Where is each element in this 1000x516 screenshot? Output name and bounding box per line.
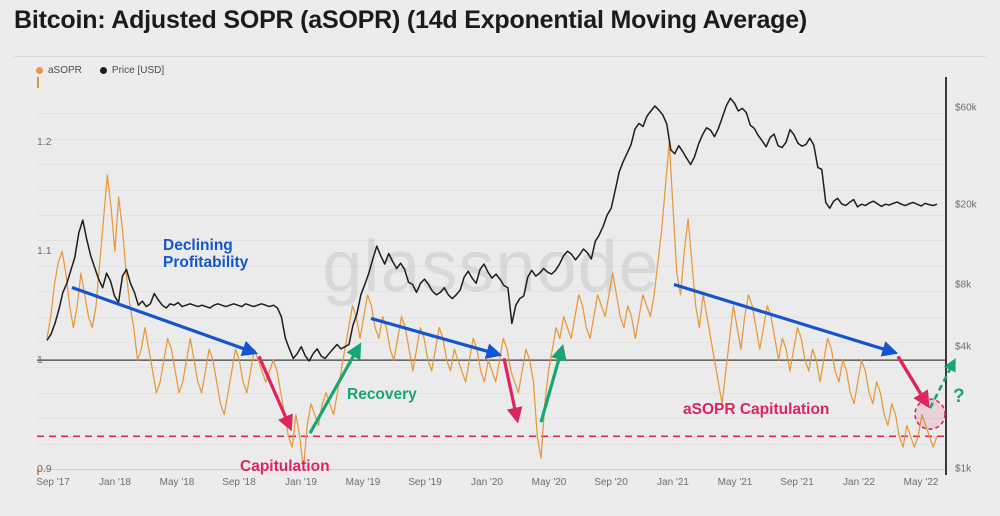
x-axis-tick: May '18 xyxy=(160,477,195,488)
x-axis-tick: Jan '22 xyxy=(843,477,875,488)
y-right-tick: $4k xyxy=(945,341,971,352)
annotation-declining-profitability: Declining Profitability xyxy=(163,237,248,272)
annotation-recovery: Recovery xyxy=(347,386,417,403)
gridline xyxy=(37,215,945,216)
gridline xyxy=(37,444,945,445)
gridline xyxy=(37,190,945,191)
y-axis-right xyxy=(945,77,947,475)
gridline xyxy=(37,139,945,140)
watermark: glassnode xyxy=(322,226,659,308)
x-axis-tick: Sep '19 xyxy=(408,477,442,488)
chart-card: aSOPR Price [USD] glassnode 1.21.110.9 $… xyxy=(14,56,986,496)
x-axis-tick: Jan '20 xyxy=(471,477,503,488)
gridline xyxy=(37,342,945,343)
gridline xyxy=(37,113,945,114)
y-left-tick: 1.2 xyxy=(37,136,45,148)
x-axis-tick: Sep '21 xyxy=(780,477,814,488)
y-right-tick: $8k xyxy=(945,280,971,291)
annotation-capitulation: Capitulation xyxy=(240,458,330,475)
annotation-asopr-capitulation: aSOPR Capitulation xyxy=(683,401,829,418)
page-title: Bitcoin: Adjusted SOPR (aSOPR) (14d Expo… xyxy=(14,6,807,35)
gridline xyxy=(37,317,945,318)
gridline xyxy=(37,393,945,394)
legend-dot-asopr xyxy=(36,67,43,74)
legend-item-price[interactable]: Price [USD] xyxy=(100,65,164,76)
y-right-tick: $1k xyxy=(945,464,971,475)
gridline xyxy=(37,291,945,292)
y-right-tick: $60k xyxy=(945,102,977,113)
x-axis xyxy=(37,469,945,470)
chart-legend: aSOPR Price [USD] xyxy=(36,65,164,76)
legend-item-asopr[interactable]: aSOPR xyxy=(36,65,82,76)
y-left-tick: 0.9 xyxy=(37,463,45,475)
legend-label-price: Price [USD] xyxy=(112,65,164,76)
gridline xyxy=(37,367,945,368)
x-axis-tick: May '22 xyxy=(904,477,939,488)
x-axis-tick: Jan '21 xyxy=(657,477,689,488)
x-axis-tick: May '21 xyxy=(718,477,753,488)
annotation-question-mark: ? xyxy=(953,386,965,407)
legend-dot-price xyxy=(100,67,107,74)
series-line-asopr xyxy=(47,142,937,469)
x-axis-tick: Jan '19 xyxy=(285,477,317,488)
x-axis-tick: Sep '18 xyxy=(222,477,256,488)
x-axis-tick: Sep '17 xyxy=(36,477,70,488)
legend-label-asopr: aSOPR xyxy=(48,65,82,76)
gridline xyxy=(37,164,945,165)
y-left-tick: 1 xyxy=(37,354,45,366)
x-axis-tick: May '20 xyxy=(532,477,567,488)
y-left-tick: 1.1 xyxy=(37,245,45,257)
series-line-price-usd xyxy=(47,98,937,361)
x-axis-tick: May '19 xyxy=(346,477,381,488)
chart-screenshot: Bitcoin: Adjusted SOPR (aSOPR) (14d Expo… xyxy=(0,0,1000,516)
y-right-tick: $20k xyxy=(945,199,977,210)
x-axis-tick: Jan '18 xyxy=(99,477,131,488)
x-axis-tick: Sep '20 xyxy=(594,477,628,488)
